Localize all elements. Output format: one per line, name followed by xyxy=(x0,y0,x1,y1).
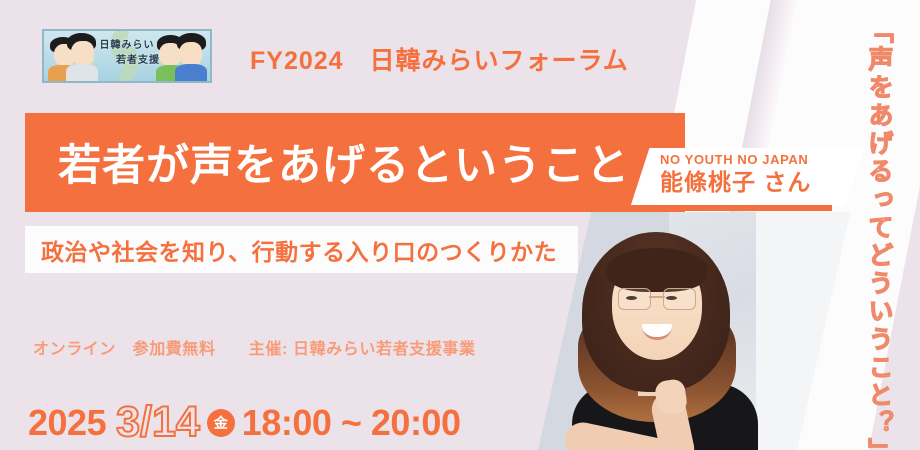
main-title-band: 若者が声をあげるということ xyxy=(25,113,685,212)
logo-text: 日韓みらい 若者支援 xyxy=(44,39,210,68)
speaker-organization: NO YOUTH NO JAPAN xyxy=(660,152,811,168)
subtitle-text: 政治や社会を知り、行動する入り口のつくりかた xyxy=(41,233,557,267)
event-month-day: 3/14 xyxy=(116,398,200,447)
logo-text-line2: 若者支援 xyxy=(44,54,210,69)
speaker-portrait-photo xyxy=(538,212,850,450)
main-title-text: 若者が声をあげるということ xyxy=(58,130,630,192)
speaker-underline xyxy=(620,205,832,211)
forum-title: FY2024 日韓みらいフォーラム xyxy=(250,41,629,77)
event-datetime: 2025 3/14 金 18:00 ~ 20:00 xyxy=(28,398,460,447)
photo-hand xyxy=(654,378,688,416)
speaker-info: NO YOUTH NO JAPAN 能條桃子 さん xyxy=(660,152,811,197)
event-time: 18:00 ~ 20:00 xyxy=(242,402,461,444)
photo-glasses xyxy=(618,288,696,308)
event-day-of-week-badge: 金 xyxy=(207,409,235,437)
event-year: 2025 xyxy=(28,402,106,444)
logo-text-line1: 日韓みらい xyxy=(44,39,210,54)
speaker-name: 能條桃子 さん xyxy=(660,169,811,197)
nikkan-mirai-logo: 日韓みらい 若者支援 xyxy=(42,29,212,83)
photo-fringe xyxy=(606,248,708,292)
poster-root: 日韓みらい 若者支援 FY2024 日韓みらいフォーラム 若者が声をあげるという… xyxy=(0,0,920,450)
subtitle-band: 政治や社会を知り、行動する入り口のつくりかた xyxy=(25,226,578,273)
vertical-catch-copy: 「声をあげるってどういうこと？」 xyxy=(866,18,893,450)
event-info-line: オンライン 参加費無料 主催: 日韓みらい若者支援事業 xyxy=(33,335,476,359)
